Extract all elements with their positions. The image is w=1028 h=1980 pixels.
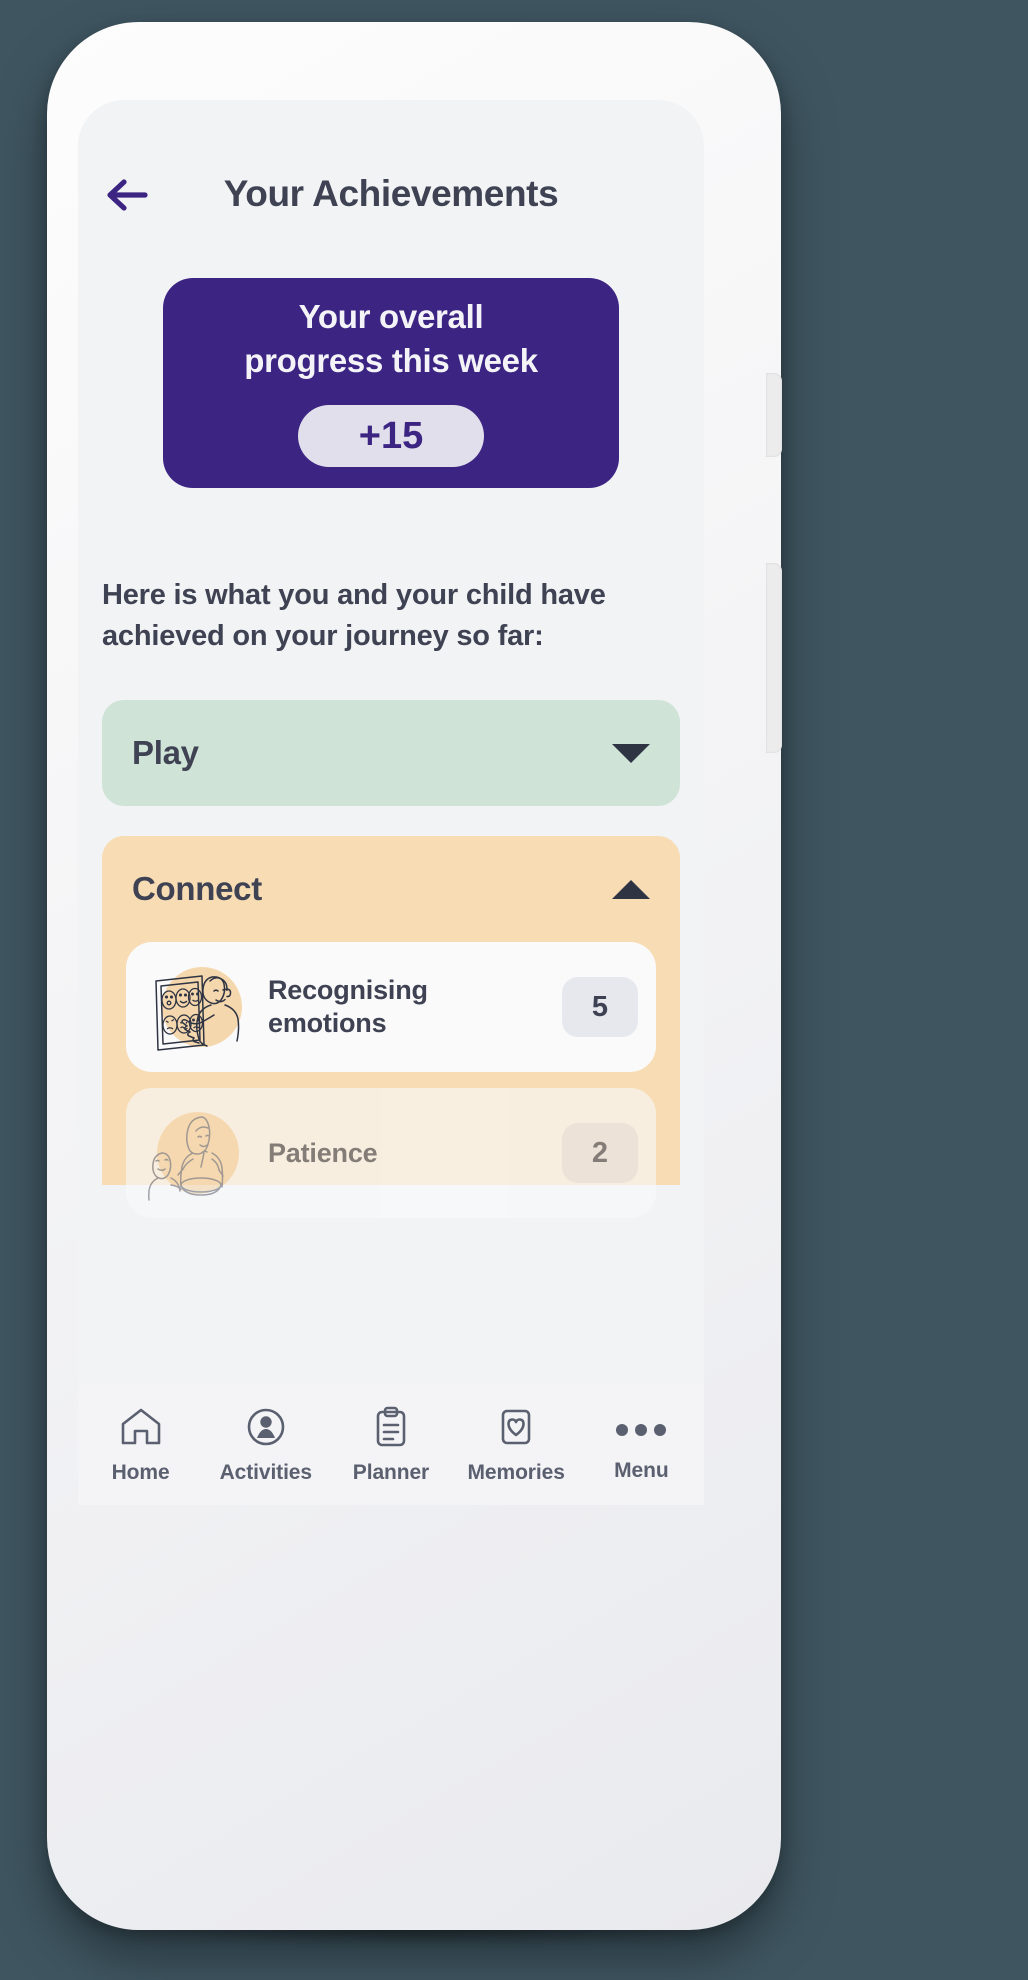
- bottom-navigation-bar: Home Activities Planner: [78, 1385, 704, 1505]
- accordion-connect[interactable]: Connect: [102, 836, 680, 1185]
- nav-label-home: Home: [112, 1461, 170, 1485]
- accordion-play-header[interactable]: Play: [102, 700, 680, 806]
- app-screen: Your Achievements Your overall progress …: [78, 100, 704, 1385]
- achievement-row[interactable]: Patience 2: [126, 1088, 656, 1218]
- nav-item-activities[interactable]: Activities: [210, 1405, 322, 1485]
- app-header: Your Achievements: [78, 162, 704, 232]
- achievement-label-line2: emotions: [268, 1008, 386, 1038]
- achievement-label: Recognising emotions: [252, 974, 562, 1040]
- accordion-connect-items: Recognising emotions 5: [102, 942, 680, 1234]
- accordion-play-label: Play: [132, 734, 612, 772]
- nav-item-memories[interactable]: Memories: [460, 1405, 572, 1485]
- triangle-down-icon[interactable]: [612, 744, 650, 763]
- phone-side-button-upper[interactable]: [766, 373, 782, 457]
- nav-item-menu[interactable]: Menu: [585, 1408, 697, 1483]
- accordion-connect-label: Connect: [132, 870, 612, 908]
- phone-side-button-lower[interactable]: [766, 563, 782, 753]
- intro-text: Here is what you and your child have ach…: [102, 575, 682, 657]
- achievement-count-badge: 5: [562, 977, 638, 1037]
- achievement-count-badge: 2: [562, 1123, 638, 1183]
- clipboard-icon: [368, 1405, 414, 1454]
- progress-card-title: Your overall progress this week: [244, 295, 538, 383]
- accordion-connect-header[interactable]: Connect: [102, 836, 680, 942]
- nav-label-activities: Activities: [220, 1461, 312, 1485]
- nav-label-planner: Planner: [353, 1461, 429, 1485]
- heart-photo-icon: [493, 1405, 539, 1454]
- accordion-play[interactable]: Play: [102, 700, 680, 806]
- activities-target-icon: [243, 1405, 289, 1454]
- nav-label-menu: Menu: [614, 1459, 668, 1483]
- progress-score-badge: +15: [298, 405, 484, 467]
- screenshot-stage: Your Achievements Your overall progress …: [0, 0, 1028, 1980]
- parent-and-child-cooking-illustration: [144, 1101, 252, 1205]
- page-title: Your Achievements: [78, 162, 704, 226]
- child-pointing-at-emotions-chart-illustration: [144, 955, 252, 1059]
- triangle-up-icon[interactable]: [612, 880, 650, 899]
- achievement-row[interactable]: Recognising emotions 5: [126, 942, 656, 1072]
- nav-label-memories: Memories: [468, 1461, 565, 1485]
- achievement-label: Patience: [252, 1137, 562, 1170]
- nav-item-planner[interactable]: Planner: [335, 1405, 447, 1485]
- progress-card-title-line1: Your overall: [299, 298, 484, 335]
- ellipsis-icon: [616, 1408, 666, 1452]
- achievement-label-line1: Recognising: [268, 975, 428, 1005]
- progress-card-title-line2: progress this week: [244, 342, 538, 379]
- overall-progress-card: Your overall progress this week +15: [163, 278, 619, 488]
- nav-item-home[interactable]: Home: [85, 1405, 197, 1485]
- home-icon: [118, 1405, 164, 1454]
